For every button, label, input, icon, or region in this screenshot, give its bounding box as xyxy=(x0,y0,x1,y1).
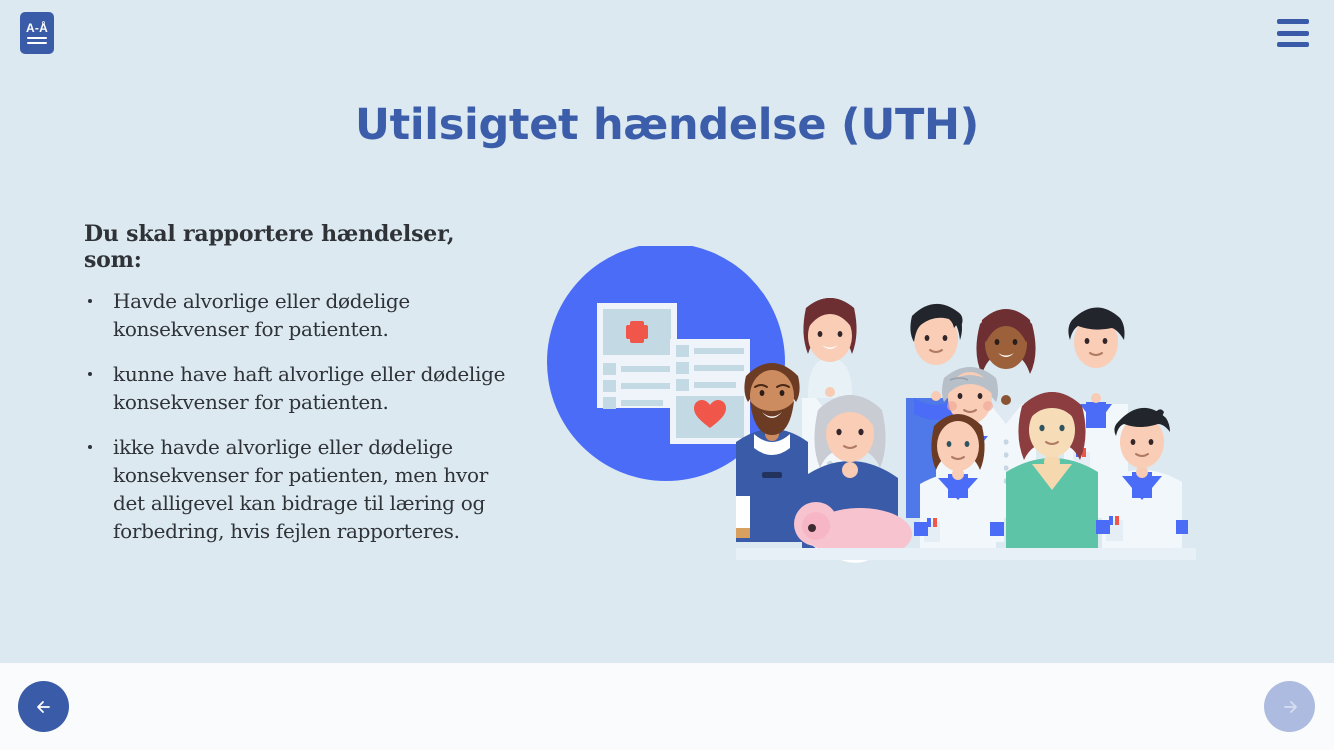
prev-button[interactable] xyxy=(18,681,69,732)
top-bar: A-Å xyxy=(0,0,1334,66)
logo-label: A-Å xyxy=(26,22,48,34)
arrow-right-icon xyxy=(1279,696,1301,718)
slide-page: A-Å Utilsigtet hændelse (UTH) Du skal ra… xyxy=(0,0,1334,750)
logo-lines xyxy=(27,37,47,44)
list-item: Havde alvorlige eller dødelige konsekven… xyxy=(84,287,514,343)
healthcare-team-documents-illustration xyxy=(540,246,1200,616)
footer-nav xyxy=(0,663,1334,750)
document-card-cross xyxy=(597,303,677,409)
section-heading: Du skal rapportere hændelser, som: xyxy=(84,221,514,273)
slide-content: Utilsigtet hændelse (UTH) Du skal rappor… xyxy=(0,66,1334,663)
bullet-list: Havde alvorlige eller dødelige konsekven… xyxy=(84,287,514,545)
text-column: Du skal rapportere hændelser, som: Havde… xyxy=(84,221,514,562)
list-item: kunne have haft alvorlige eller dødelige… xyxy=(84,360,514,416)
page-title: Utilsigtet hændelse (UTH) xyxy=(0,100,1334,150)
people-group xyxy=(736,298,1196,563)
person-front-green xyxy=(1006,392,1098,554)
hamburger-menu-icon[interactable] xyxy=(1277,19,1309,47)
arrow-left-icon xyxy=(33,696,55,718)
list-item: ikke havde alvorlige eller dødelige kons… xyxy=(84,433,514,545)
document-card-heart xyxy=(670,339,750,444)
next-button[interactable] xyxy=(1264,681,1315,732)
document-az-icon[interactable]: A-Å xyxy=(20,12,54,54)
